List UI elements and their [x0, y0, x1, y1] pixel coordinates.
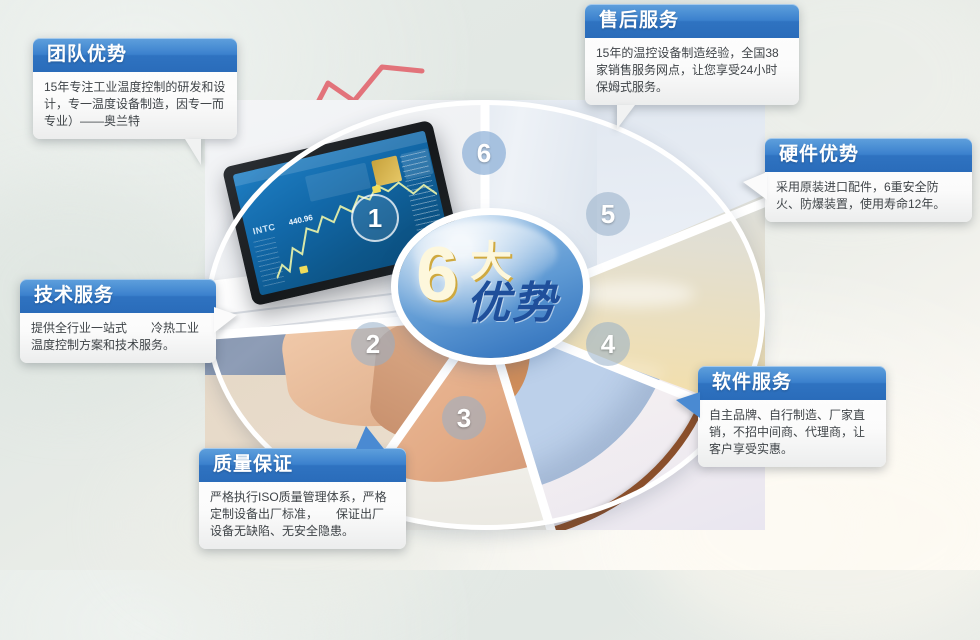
segment-number-1[interactable]: 1: [351, 194, 399, 242]
card-title-after-sales: 售后服务: [585, 4, 799, 38]
callout-tail: [214, 307, 237, 333]
callout-card-software[interactable]: 软件服务 自主品牌、自行制造、厂家直销，不招中间商、代理商，让客户享受实惠。: [698, 366, 886, 467]
center-badge[interactable]: 6 大 优势: [398, 215, 583, 358]
infographic-canvas: INTC 440.96: [0, 0, 980, 570]
card-body-quality: 严格执行ISO质量管理体系，严格定制设备出厂标准， 保证出厂设备无缺陷、无安全隐…: [199, 482, 406, 549]
card-body-after-sales: 15年的温控设备制造经验，全国38家销售服务网点，让您享受24小时保姆式服务。: [585, 38, 799, 105]
card-title-quality: 质量保证: [199, 448, 406, 482]
card-title-team: 团队优势: [33, 38, 237, 72]
callout-tail: [185, 139, 201, 165]
callout-card-team[interactable]: 团队优势 15年专注工业温度控制的研发和设计，专一温度设备制造，因专一而专业）—…: [33, 38, 237, 139]
segment-number-2[interactable]: 2: [351, 322, 395, 366]
callout-tail: [617, 105, 635, 129]
badge-word: 优势: [466, 281, 558, 327]
segment-number-5[interactable]: 5: [586, 192, 630, 236]
callout-tail: [743, 172, 767, 200]
segment-number-4[interactable]: 4: [586, 322, 630, 366]
card-body-hardware: 采用原装进口配件，6重安全防火、防爆装置，使用寿命12年。: [765, 172, 972, 222]
callout-card-technical[interactable]: 技术服务 提供全行业一站式 冷热工业温度控制方案和技术服务。: [20, 279, 216, 363]
segment-number-6[interactable]: 6: [462, 131, 506, 175]
callout-card-after-sales[interactable]: 售后服务 15年的温控设备制造经验，全国38家销售服务网点，让您享受24小时保姆…: [585, 4, 799, 105]
callout-card-quality[interactable]: 质量保证 严格执行ISO质量管理体系，严格定制设备出厂标准， 保证出厂设备无缺陷…: [199, 448, 406, 549]
badge-number: 6: [416, 237, 458, 313]
card-body-software: 自主品牌、自行制造、厂家直销，不招中间商、代理商，让客户享受实惠。: [698, 400, 886, 467]
card-title-technical: 技术服务: [20, 279, 216, 313]
callout-tail: [676, 392, 700, 418]
badge-unit: 大: [470, 241, 512, 283]
card-title-hardware: 硬件优势: [765, 138, 972, 172]
card-body-team: 15年专注工业温度控制的研发和设计，专一温度设备制造，因专一而专业）——奥兰特: [33, 72, 237, 139]
card-title-software: 软件服务: [698, 366, 886, 400]
callout-card-hardware[interactable]: 硬件优势 采用原装进口配件，6重安全防火、防爆装置，使用寿命12年。: [765, 138, 972, 222]
segment-number-3[interactable]: 3: [442, 396, 486, 440]
callout-tail: [356, 426, 384, 449]
card-body-technical: 提供全行业一站式 冷热工业温度控制方案和技术服务。: [20, 313, 216, 363]
